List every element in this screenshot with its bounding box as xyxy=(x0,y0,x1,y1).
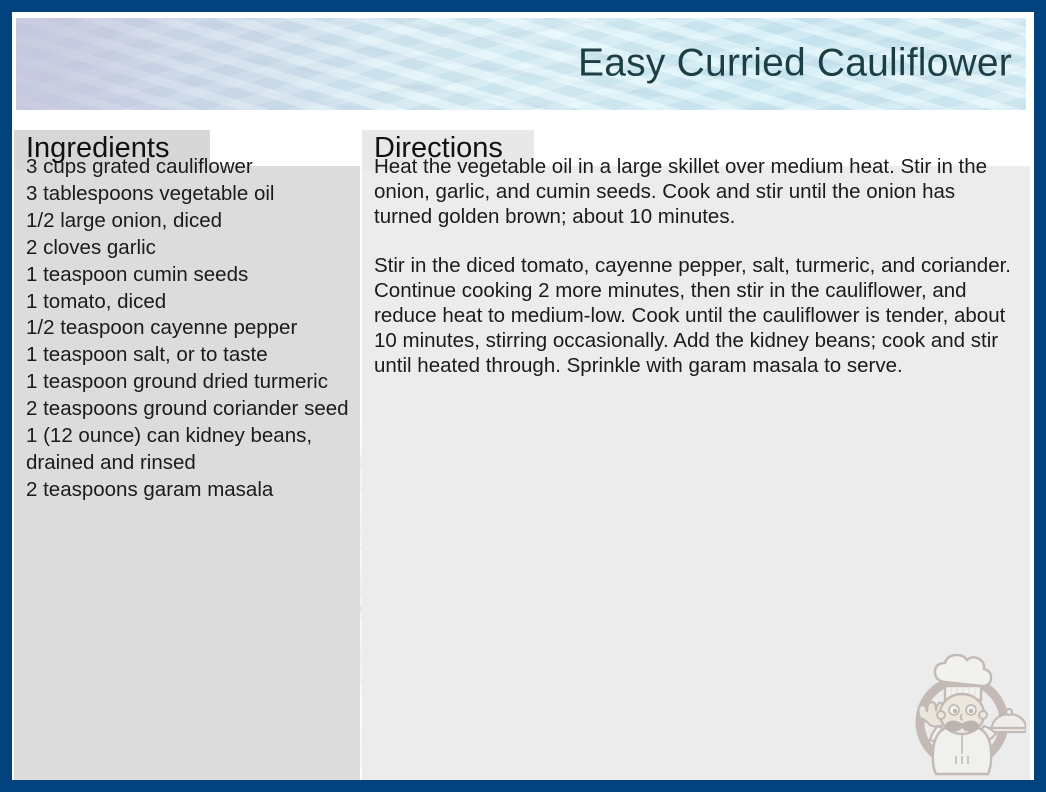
list-item: 1 (12 ounce) can kidney beans, drained a… xyxy=(26,423,350,477)
list-item: 2 teaspoons garam masala xyxy=(26,477,350,504)
list-item: 1/2 teaspoon cayenne pepper xyxy=(26,315,350,342)
list-item: 1/2 large onion, diced xyxy=(26,208,350,235)
header-banner: Easy Curried Cauliflower xyxy=(16,18,1026,110)
recipe-card: Easy Curried Cauliflower xyxy=(0,0,1046,792)
ingredients-panel: Ingredients 3 cups grated cauliflower 3 … xyxy=(14,130,360,780)
list-item: 1 teaspoon ground dried turmeric xyxy=(26,369,350,396)
list-item: 1 tomato, diced xyxy=(26,289,350,316)
recipe-card-inner: Easy Curried Cauliflower xyxy=(12,12,1034,780)
list-item: 1 teaspoon cumin seeds xyxy=(26,262,350,289)
directions-paragraph: Stir in the diced tomato, cayenne pepper… xyxy=(374,253,1014,379)
chef-mascot-logo xyxy=(898,648,1026,776)
list-item: 3 tablespoons vegetable oil xyxy=(26,181,350,208)
directions-content: Heat the vegetable oil in a large skille… xyxy=(362,130,1030,379)
ingredients-list: 3 cups grated cauliflower 3 tablespoons … xyxy=(26,154,350,504)
list-item: 2 teaspoons ground coriander seed xyxy=(26,396,350,423)
page-title: Easy Curried Cauliflower xyxy=(578,43,1012,86)
list-item: 2 cloves garlic xyxy=(26,235,350,262)
list-item: 3 cups grated cauliflower xyxy=(26,154,350,181)
ingredients-content: 3 cups grated cauliflower 3 tablespoons … xyxy=(14,130,360,504)
list-item: 1 teaspoon salt, or to taste xyxy=(26,342,350,369)
directions-paragraph: Heat the vegetable oil in a large skille… xyxy=(374,154,1014,230)
